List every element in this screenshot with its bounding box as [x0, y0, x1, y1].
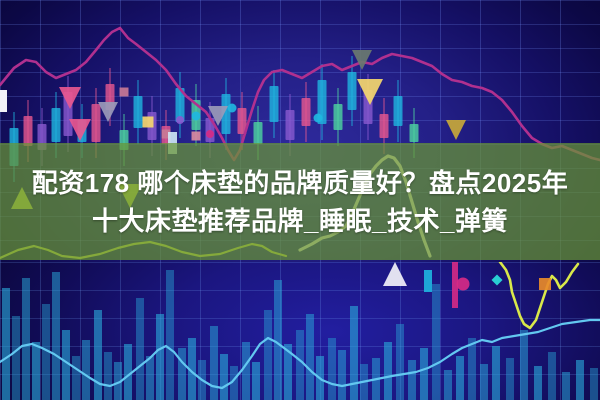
- square-marker-9: [143, 117, 154, 128]
- volume-bar-48: [534, 366, 542, 400]
- headline-banner: 配资178 哪个床垫的品牌质量好？盘点2025年十大床垫推荐品牌_睡眠_技术_弹…: [0, 143, 600, 260]
- volume-bar-47: [520, 330, 528, 400]
- volume-bar-32: [338, 350, 346, 400]
- volume-bar-25: [264, 310, 272, 400]
- volume-chart-panel: [0, 262, 600, 400]
- candle-body-19: [286, 110, 295, 140]
- volume-bar-41: [444, 370, 452, 400]
- triangle-down-marker-1: [98, 102, 118, 122]
- volume-bar-40: [432, 284, 440, 400]
- candle-body-18: [270, 86, 279, 122]
- candle-body-1: [24, 116, 33, 146]
- triangle-down-marker-5: [357, 79, 383, 105]
- volume-bar-16: [166, 270, 174, 400]
- volume-bar-39: [420, 348, 428, 400]
- volume-bar-8: [82, 340, 90, 400]
- candle-body-22: [334, 104, 343, 130]
- price-line: [0, 28, 600, 160]
- volume-bar-36: [384, 342, 392, 400]
- volume-overlay-line: [500, 262, 578, 328]
- circle-marker-16: [228, 104, 237, 113]
- volume-bar-45: [492, 346, 500, 400]
- triangle-down-marker-4: [352, 50, 372, 70]
- volume-bar-50: [562, 372, 570, 400]
- chart-banner-image: 配资178 哪个床垫的品牌质量好？盘点2025年十大床垫推荐品牌_睡眠_技术_弹…: [0, 0, 600, 400]
- volume-bar-44: [480, 364, 488, 400]
- volume-bar-29: [306, 314, 314, 400]
- volume-bar-28: [296, 330, 304, 400]
- volume-bar-15: [156, 314, 164, 400]
- volume-bar-42: [456, 356, 464, 400]
- triangle-up-marker-0: [383, 262, 407, 286]
- candle-body-6: [92, 104, 101, 142]
- volume-bar-37: [396, 324, 404, 400]
- diamond-marker-4: [492, 275, 503, 286]
- volume-chart-graphics: [0, 262, 600, 400]
- volume-bar-0: [2, 288, 10, 400]
- candle-body-27: [410, 124, 419, 142]
- square-marker-10: [120, 88, 129, 97]
- volume-bar-9: [94, 310, 102, 400]
- circle-marker-15: [206, 130, 214, 138]
- candle-body-23: [348, 72, 357, 110]
- volume-bar-33: [350, 306, 358, 400]
- circle-marker-14: [176, 116, 184, 124]
- candle-body-9: [134, 96, 143, 128]
- volume-bar-13: [136, 298, 144, 400]
- circle-marker-17: [314, 114, 323, 123]
- volume-bar-5: [52, 272, 60, 400]
- triangle-down-marker-6: [446, 120, 466, 140]
- volume-bar-26: [274, 280, 282, 400]
- volume-bar-14: [146, 356, 154, 400]
- volume-bar-43: [468, 338, 476, 400]
- circle-marker-3: [457, 278, 470, 291]
- volume-bar-46: [506, 358, 514, 400]
- volume-bar-23: [242, 342, 250, 400]
- volume-bar-24: [252, 362, 260, 400]
- volume-bar-20: [210, 326, 218, 400]
- edge-marker: [0, 90, 7, 112]
- rect-marker-1: [424, 270, 432, 292]
- volume-bar-51: [576, 360, 584, 400]
- candle-body-25: [380, 114, 389, 138]
- square-marker-12: [192, 132, 201, 141]
- volume-bar-49: [548, 352, 556, 400]
- square-marker-5: [539, 278, 551, 290]
- circle-marker-13: [192, 112, 201, 121]
- volume-bar-10: [104, 352, 112, 400]
- volume-bar-31: [328, 338, 336, 400]
- volume-bar-3: [32, 342, 40, 400]
- candle-body-26: [394, 96, 403, 126]
- volume-bar-1: [12, 316, 20, 400]
- volume-bar-2: [22, 278, 30, 400]
- volume-bar-17: [178, 348, 186, 400]
- candle-body-20: [302, 98, 311, 126]
- candle-body-3: [52, 108, 61, 142]
- volume-bar-38: [408, 360, 416, 400]
- volume-bar-7: [72, 356, 80, 400]
- headline-text: 配资178 哪个床垫的品牌质量好？盘点2025年十大床垫推荐品牌_睡眠_技术_弹…: [20, 164, 580, 240]
- triangle-down-marker-0: [59, 87, 81, 109]
- volume-bar-52: [590, 368, 598, 400]
- volume-bar-21: [220, 354, 228, 400]
- candle-body-17: [254, 122, 263, 144]
